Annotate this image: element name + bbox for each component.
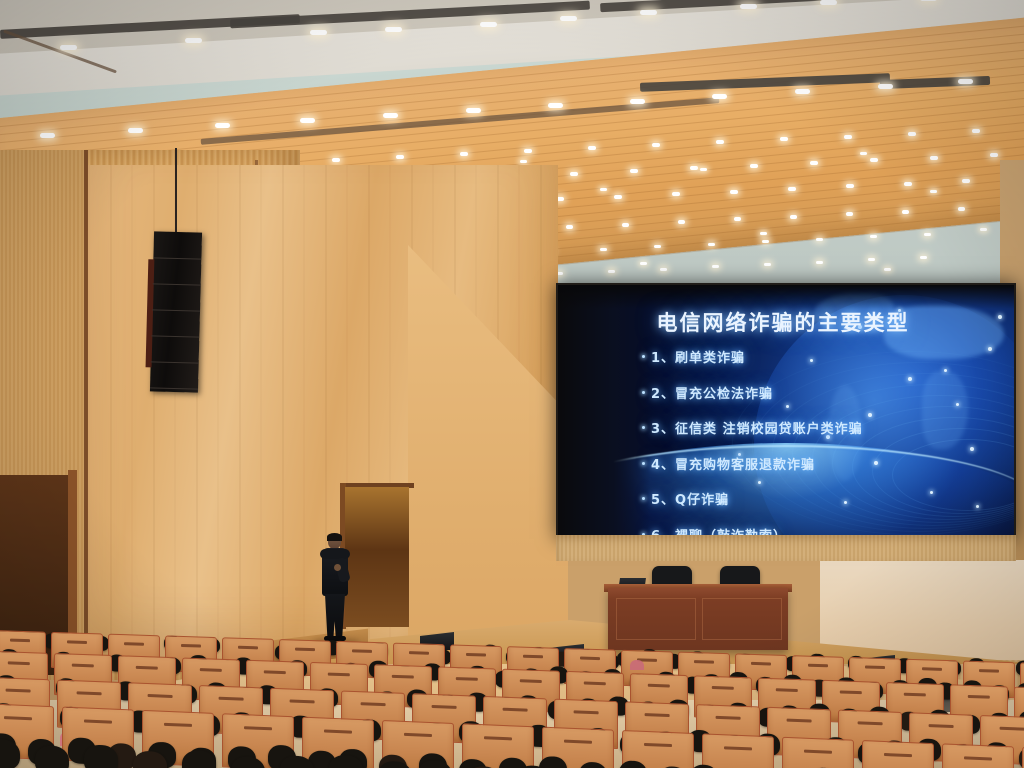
ceiling-downlight <box>972 129 980 133</box>
ceiling-downlight <box>630 169 638 173</box>
speaker-cabinet <box>153 231 202 259</box>
seat-clip <box>645 713 670 717</box>
ceiling-downlight <box>215 123 230 128</box>
led-screen-bezel: 电信网络诈骗的主要类型 1、刷单类诈骗2、冒充公检法诈骗3、征信类 注销校园贷账… <box>556 283 1016 539</box>
ceiling-downlight <box>708 243 715 246</box>
ceiling-downlight <box>332 158 340 162</box>
seat-clip <box>392 675 414 679</box>
seat-clip <box>404 733 432 737</box>
seat-clip <box>964 757 992 761</box>
ceiling-downlight <box>990 153 998 157</box>
seat-clip <box>67 641 87 645</box>
seat-clip <box>865 666 885 670</box>
table-panel <box>702 598 782 640</box>
sparkle-dot <box>868 413 872 417</box>
wall-fold-line <box>239 165 241 665</box>
ceiling-downlight <box>730 190 738 194</box>
ceiling-downlight <box>60 45 77 50</box>
seat-clip <box>328 672 350 676</box>
ceiling-downlight <box>678 220 685 224</box>
ceiling-downlight <box>930 156 938 160</box>
seat-clip <box>324 730 352 734</box>
auditorium-scene: 电信网络诈骗的主要类型 1、刷单类诈骗2、冒充公检法诈骗3、征信类 注销校园贷账… <box>0 0 1024 768</box>
ceiling-downlight <box>980 228 987 231</box>
seat-clip <box>580 657 600 661</box>
seat-clip <box>979 670 999 674</box>
ceiling-downlight <box>920 0 937 1</box>
seat-clip <box>564 740 592 744</box>
presenter-shoulders <box>320 549 350 559</box>
ceiling-downlight <box>958 79 973 84</box>
seat-clip <box>804 750 832 754</box>
slide-bullet-list: 1、刷单类诈骗2、冒充公检法诈骗3、征信类 注销校园贷账户类诈骗4、冒充购物客服… <box>642 347 863 537</box>
seat-clip <box>77 691 102 695</box>
ceiling-downlight <box>383 113 398 118</box>
speaker-cabinet <box>150 361 199 389</box>
ceiling-downlight <box>920 256 927 259</box>
ceiling-downlight <box>185 38 202 43</box>
ceiling-downlight <box>654 245 661 248</box>
ceiling-downlight <box>716 140 724 144</box>
slide-bullet-text: 4、冒充购物客服退款诈骗 <box>651 454 815 473</box>
seat-clip <box>4 717 32 721</box>
ceiling-downlight <box>652 143 660 147</box>
presenter-figure <box>320 534 350 642</box>
speaker-cabinet <box>152 283 201 311</box>
ceiling-downlight <box>908 132 916 136</box>
ceiling-downlight <box>962 179 970 183</box>
seat-clip <box>10 639 30 643</box>
seat-clip <box>432 705 457 709</box>
slide-bullet-text: 5、Q仔诈骗 <box>651 489 729 508</box>
slide-bullet-item: 4、冒充购物客服退款诈骗 <box>642 454 863 473</box>
seat-clip <box>72 663 94 667</box>
ceiling-downlight <box>640 10 657 15</box>
led-screen-surface[interactable]: 电信网络诈骗的主要类型 1、刷单类诈骗2、冒充公检法诈骗3、征信类 注销校园贷账… <box>558 285 1014 537</box>
ceiling-downlight <box>460 152 468 156</box>
ceiling-downlight <box>524 149 532 153</box>
ceiling-downlight <box>385 27 402 32</box>
seat[interactable] <box>942 743 1014 768</box>
slide-bullet-text: 1、刷单类诈骗 <box>651 347 745 366</box>
ceiling-downlight <box>660 268 667 271</box>
wall-fold-line <box>217 165 219 665</box>
ceiling-downlight <box>788 187 796 191</box>
ceiling-downlight <box>820 0 837 5</box>
speaker-cabinet <box>153 257 202 285</box>
seat-clip <box>523 655 543 659</box>
ceiling-downlight <box>902 210 909 214</box>
sparkle-dot <box>970 447 974 451</box>
ceiling-downlight <box>588 146 596 150</box>
ceiling-downlight <box>884 268 891 271</box>
seat-clip <box>484 737 512 741</box>
ceiling-downlight <box>924 233 931 236</box>
sparkle-dot <box>988 347 992 351</box>
ceiling-downlight <box>790 215 797 219</box>
wall-fold-line <box>88 165 90 665</box>
wall-fold-line <box>303 165 305 665</box>
seat-clip <box>968 695 990 699</box>
stage-door-opening[interactable] <box>345 487 409 627</box>
seat-clip <box>164 723 192 727</box>
seat-clip <box>929 724 954 728</box>
slide-bullet-item: 2、冒充公检法诈骗 <box>642 383 863 402</box>
seat-clip <box>181 644 201 648</box>
ceiling-downlight <box>480 22 497 27</box>
seat-clip <box>694 661 714 665</box>
ceiling-downlight <box>712 94 727 99</box>
ceiling-downlight <box>816 238 823 241</box>
speaker-rigging-cable <box>175 148 177 236</box>
seat-clip <box>574 710 599 714</box>
seat[interactable] <box>862 740 934 768</box>
bullet-dot-icon <box>642 426 645 429</box>
ceiling-downlight <box>750 164 758 168</box>
ceiling-downlight <box>600 188 607 191</box>
seat-clip <box>238 646 258 650</box>
ceiling-downlight <box>762 240 769 243</box>
sparkle-dot <box>976 505 979 508</box>
seat-clip <box>840 690 862 694</box>
seat-clip <box>290 700 315 704</box>
bullet-dot-icon <box>642 355 645 358</box>
wall-fold-line <box>282 165 284 665</box>
screen-base-band <box>556 535 1016 561</box>
seat-clip <box>712 686 734 690</box>
slide-bullet-item: 3、征信类 注销校园贷账户类诈骗 <box>642 418 863 437</box>
seat-clip <box>136 666 158 670</box>
seat-clip <box>787 719 812 723</box>
seat-clip <box>1000 727 1024 731</box>
seat-clip <box>503 708 528 712</box>
ceiling-downlight <box>690 166 698 170</box>
slide-title: 电信网络诈骗的主要类型 <box>558 307 1008 337</box>
ceiling-downlight <box>622 223 629 227</box>
wall-fold-line <box>110 165 112 665</box>
seat-clip <box>456 677 478 681</box>
ceiling-downlight <box>128 128 143 133</box>
slide-bullet-text: 3、征信类 注销校园贷账户类诈骗 <box>651 418 863 437</box>
table-panel <box>616 598 696 640</box>
seat-clip <box>361 702 386 706</box>
seat-clip <box>648 684 670 688</box>
ceiling-downlight <box>548 103 563 108</box>
slide-bullet-item: 1、刷单类诈骗 <box>642 347 863 366</box>
ceiling-downlight <box>566 225 573 229</box>
seat-clip <box>352 650 372 654</box>
ceiling-downlight <box>760 232 767 235</box>
ceiling-downlight <box>560 16 577 21</box>
seat-clip <box>466 653 486 657</box>
seat-clip <box>264 670 286 674</box>
seat-clip <box>200 668 222 672</box>
ceiling-downlight <box>780 137 788 141</box>
presenter-hand-microphone <box>334 564 341 571</box>
sparkle-dot <box>956 403 959 406</box>
ceiling-downlight <box>40 133 55 138</box>
ceiling-downlight <box>764 263 771 266</box>
ceiling-downlight <box>860 152 867 155</box>
ceiling-downlight <box>844 135 852 139</box>
seat-clip <box>716 716 741 720</box>
sparkle-dot <box>874 461 878 465</box>
seat-clip <box>148 694 173 698</box>
seat-clip <box>724 747 752 751</box>
seat[interactable] <box>702 733 774 768</box>
speaker-cabinet <box>151 309 200 337</box>
slide-bullet-text: 2、冒充公检法诈骗 <box>651 383 773 402</box>
ceiling-downlight <box>640 262 647 265</box>
seat-clip <box>84 720 112 724</box>
wall-fold-line <box>131 165 133 665</box>
seat-clip <box>884 753 912 757</box>
ceiling-downlight <box>570 172 578 176</box>
audience-clothing <box>630 660 644 670</box>
ceiling-downlight <box>630 99 645 104</box>
ceiling-downlight <box>672 192 680 196</box>
line-array-speaker <box>150 231 202 392</box>
presenter-hair <box>327 533 342 541</box>
ceiling-downlight <box>870 158 878 162</box>
ceiling-downlight <box>740 4 757 9</box>
seat-clip <box>8 661 30 665</box>
seat-clip <box>644 743 672 747</box>
ceiling-downlight <box>870 235 877 238</box>
seat-clip <box>295 648 315 652</box>
ceiling-downlight <box>614 195 622 199</box>
ceiling-downlight <box>520 160 527 163</box>
seat[interactable] <box>782 737 854 768</box>
seat-clip <box>520 679 542 683</box>
ceiling-downlight <box>600 248 607 251</box>
ceiling-downlight <box>396 155 404 159</box>
seat-clip <box>409 652 429 656</box>
ceiling-downlight <box>878 84 893 89</box>
ceiling-downlight <box>608 270 615 273</box>
seat-clip <box>219 697 244 701</box>
ceiling-downlight <box>310 30 327 35</box>
seat-clip <box>751 662 771 666</box>
seat-clip <box>124 643 144 647</box>
seat-clip <box>904 692 926 696</box>
ceiling-downlight <box>795 89 810 94</box>
seat-clip <box>858 721 883 725</box>
seat-clip <box>6 689 31 693</box>
ceiling-downlight <box>846 184 854 188</box>
ceiling-downlight <box>816 261 823 264</box>
seat-clip <box>776 688 798 692</box>
sparkle-dot <box>930 491 933 494</box>
seat-clip <box>922 668 942 672</box>
bullet-dot-icon <box>642 391 645 394</box>
speaker-cabinet <box>151 335 200 363</box>
sparkle-dot <box>944 369 947 372</box>
seat-clip <box>584 681 606 685</box>
ceiling-downlight <box>930 190 937 193</box>
ceiling-downlight <box>466 108 481 113</box>
presenter-legs <box>325 594 345 638</box>
ceiling-downlight <box>700 168 707 171</box>
ceiling-downlight <box>300 118 315 123</box>
screen-dark-top-falloff <box>558 285 1014 309</box>
wall-fold-line <box>260 165 262 665</box>
seat-clip <box>244 727 272 731</box>
bullet-dot-icon <box>642 497 645 500</box>
ceiling-downlight <box>904 182 912 186</box>
ceiling-downlight <box>810 161 818 165</box>
ceiling-downlight <box>958 207 965 211</box>
conference-table[interactable] <box>608 588 788 650</box>
sparkle-dot <box>908 377 912 381</box>
slide-bullet-item: 5、Q仔诈骗 <box>642 489 863 508</box>
bullet-dot-icon <box>642 462 645 465</box>
seat-clip <box>808 664 828 668</box>
